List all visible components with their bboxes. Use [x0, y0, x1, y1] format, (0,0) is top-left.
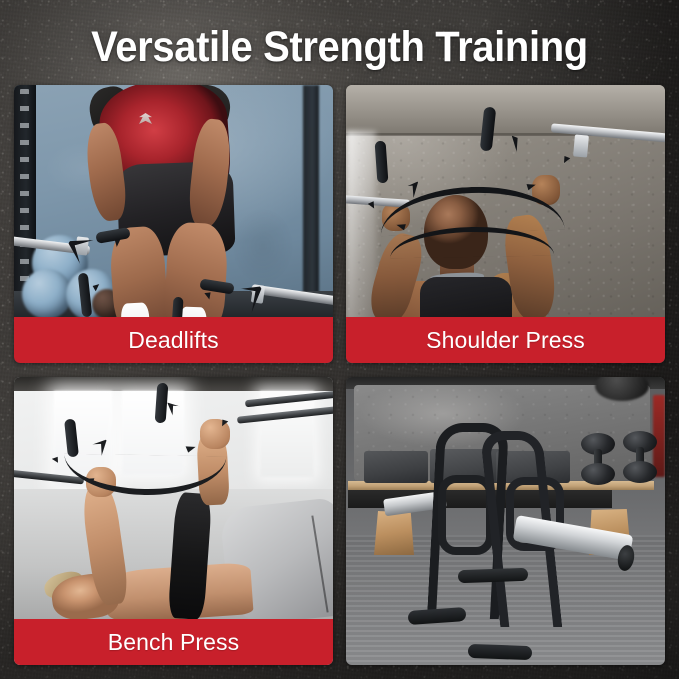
- ceiling: [346, 85, 665, 135]
- dumbbell-head-bottom: [581, 463, 615, 485]
- caption-label: Bench Press: [108, 631, 240, 654]
- ceiling-beam: [14, 377, 333, 391]
- photo-product: [346, 377, 665, 665]
- panel-shoulder-press[interactable]: Shoulder Press: [346, 85, 665, 363]
- caption-bar-deadlifts: Deadlifts: [14, 317, 333, 363]
- caption-bar-shoulder-press: Shoulder Press: [346, 317, 665, 363]
- handle-foot-front: [468, 644, 532, 660]
- panel-bench-press[interactable]: Bench Press: [14, 377, 333, 665]
- dumbbell: [629, 435, 651, 479]
- barbell-collar: [573, 134, 589, 157]
- caption-label: Deadlifts: [128, 329, 218, 352]
- caption-bar-bench-press: Bench Press: [14, 619, 333, 665]
- feature-panel-grid: Deadlifts: [14, 85, 665, 665]
- caption-label: Shoulder Press: [426, 329, 585, 352]
- dumbbell-head-bottom: [623, 461, 657, 483]
- panel-product[interactable]: [346, 377, 665, 665]
- dumbbell: [587, 437, 609, 481]
- promo-image: Versatile Strength Training: [0, 0, 679, 679]
- wooden-block-left: [374, 511, 414, 555]
- panel-deadlifts[interactable]: Deadlifts: [14, 85, 333, 363]
- handle-foot-middle: [458, 568, 528, 583]
- page-title: Versatile Strength Training: [24, 22, 655, 72]
- medicine-ball: [22, 269, 72, 319]
- rack-upright-background: [303, 85, 319, 302]
- bench-cushion: [364, 451, 428, 483]
